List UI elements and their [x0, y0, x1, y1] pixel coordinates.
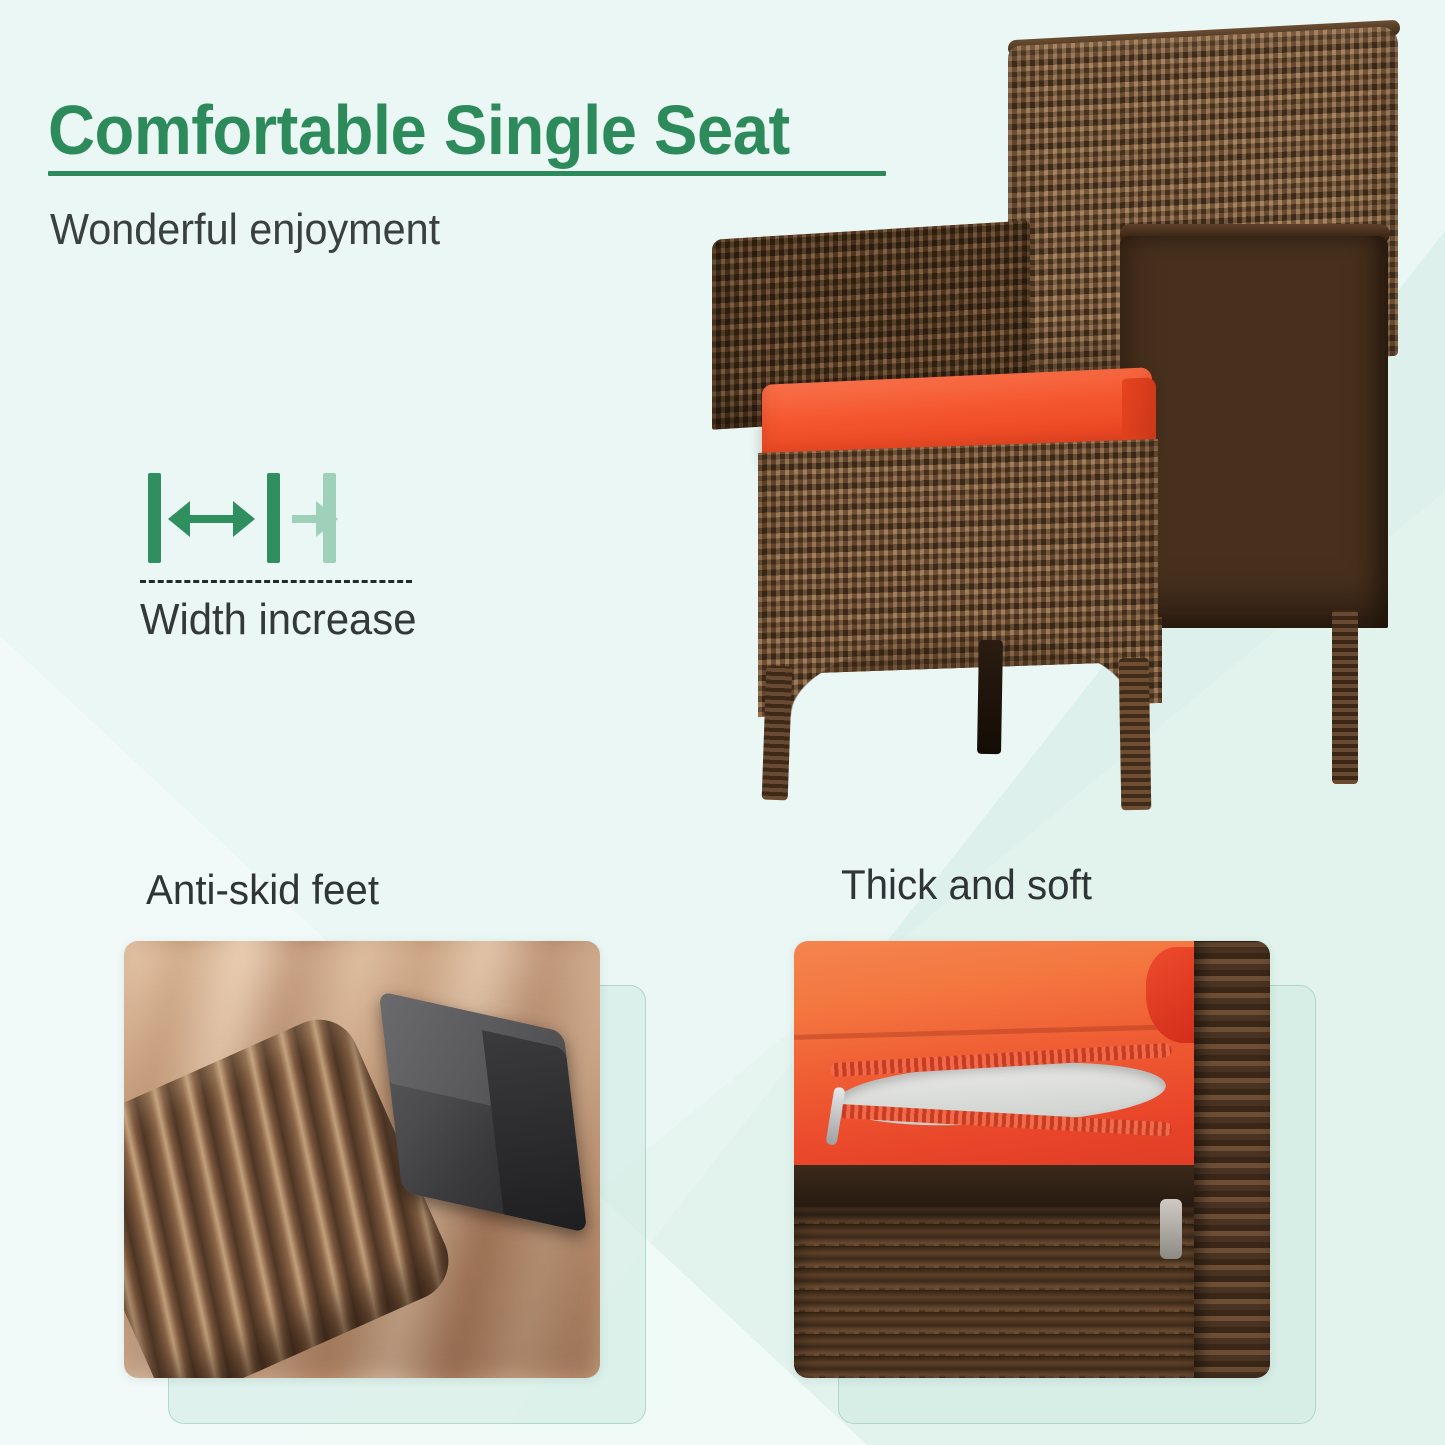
chair-leg-back-right [1332, 610, 1358, 784]
width-icon-arrow-shaft-main [187, 515, 234, 523]
chair-leg-front-right [1119, 658, 1152, 811]
width-icon-bar-left [148, 473, 161, 563]
width-increase-label: Width increase [140, 595, 416, 645]
cushion-right-rattan-post [1194, 941, 1270, 1378]
page-title: Comfortable Single Seat [48, 95, 790, 165]
width-icon-arrow-shaft-extra [292, 515, 318, 523]
width-icon-arrowhead-right-main [233, 501, 255, 537]
width-increase-icon [140, 470, 420, 570]
marketing-image: Comfortable Single Seat Wonderful enjoym… [0, 0, 1445, 1445]
cushion-seat-rattan-weave [794, 1207, 1206, 1378]
cushion-zipper-photo [794, 941, 1270, 1378]
cushion-seat-clip [1160, 1199, 1182, 1259]
rattan-armchair-photo [690, 18, 1390, 828]
panel-caption-anti-skid: Anti-skid feet [146, 866, 379, 914]
chair-leg-front-left [762, 666, 793, 801]
width-icon-bar-right [323, 473, 336, 563]
chair-apron [758, 617, 1162, 717]
page-subtitle: Wonderful enjoyment [50, 205, 440, 255]
anti-skid-foot-photo [124, 941, 600, 1378]
chair-leg-back-left [977, 640, 1003, 754]
cushion-seat-rail [794, 1165, 1206, 1213]
width-icon-bar-middle [267, 473, 280, 563]
width-increase-feature: Width increase [140, 470, 430, 570]
width-increase-divider [140, 580, 412, 583]
panel-caption-thick-soft: Thick and soft [841, 861, 1092, 909]
page-title-underline [48, 171, 886, 176]
chair-right-armrest [1120, 236, 1388, 628]
